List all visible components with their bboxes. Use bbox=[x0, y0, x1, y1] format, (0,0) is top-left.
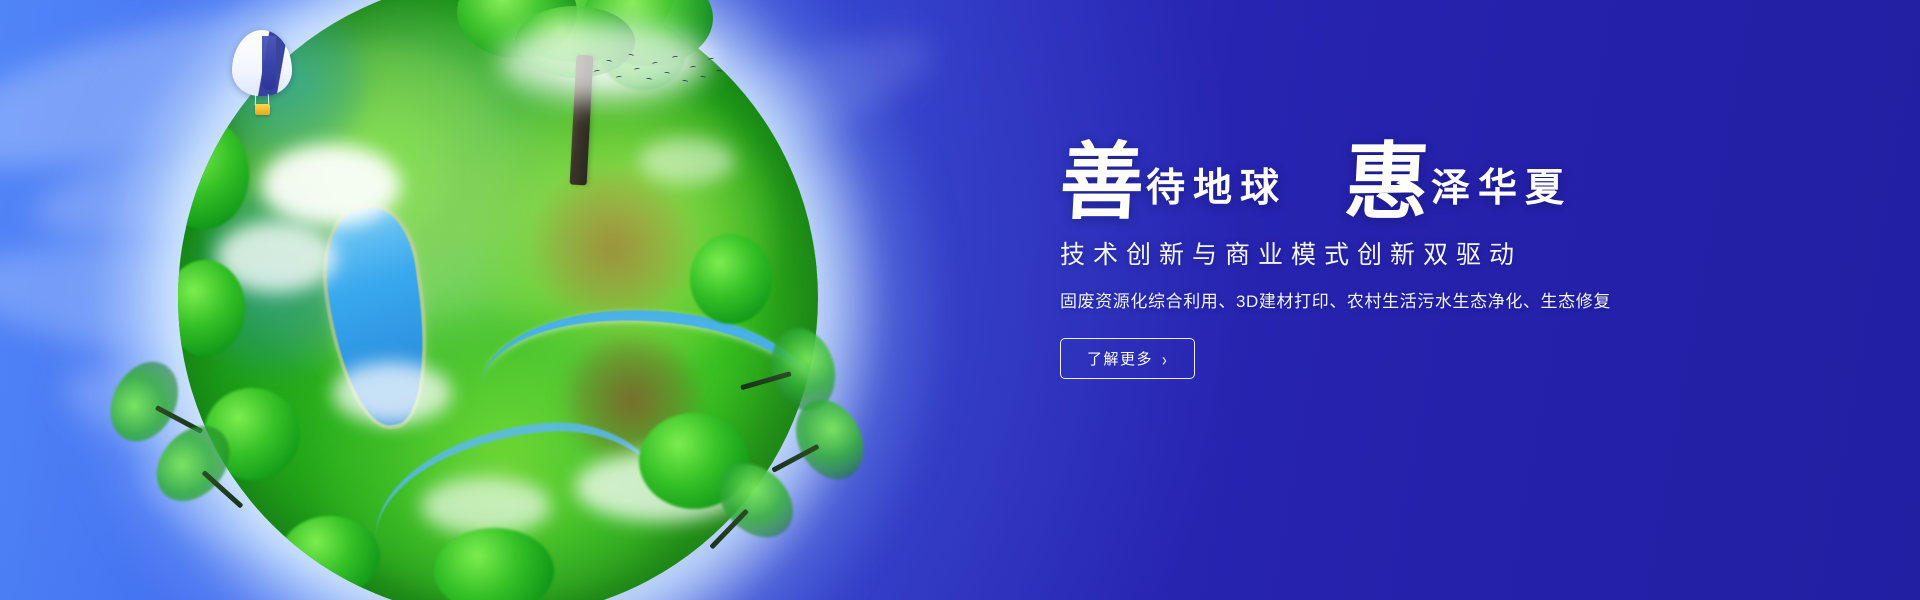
subtitle: 技术创新与商业模式创新双驱动 bbox=[1060, 235, 1700, 271]
headline-rest-1: 待地球 bbox=[1146, 157, 1287, 213]
cloud-patch bbox=[216, 221, 336, 293]
river bbox=[479, 283, 818, 447]
tree-canopy bbox=[434, 528, 554, 600]
lake bbox=[317, 203, 436, 431]
headline: 善 待地球 惠 泽华夏 bbox=[1060, 140, 1700, 217]
learn-more-label: 了解更多 bbox=[1087, 348, 1153, 369]
hero-banner: 善 待地球 惠 泽华夏 技术创新与商业模式创新双驱动 固废资源化综合利用、3D建… bbox=[0, 0, 1920, 600]
river bbox=[365, 411, 668, 544]
hero-copy: 善 待地球 惠 泽华夏 技术创新与商业模式创新双驱动 固废资源化综合利用、3D建… bbox=[1060, 140, 1700, 379]
description: 固废资源化综合利用、3D建材打印、农村生活污水生态净化、生态修复 bbox=[1060, 287, 1700, 312]
bird-flock bbox=[592, 50, 722, 94]
headline-phrase-2: 惠 泽华夏 bbox=[1345, 140, 1572, 217]
headline-rest-2: 泽华夏 bbox=[1431, 157, 1572, 213]
headline-phrase-1: 善 待地球 bbox=[1060, 140, 1287, 217]
headline-lead-char-2: 惠 bbox=[1343, 146, 1431, 218]
terrain-patch bbox=[530, 170, 696, 324]
cloud-patch bbox=[639, 138, 735, 184]
learn-more-button[interactable]: 了解更多 › bbox=[1060, 338, 1195, 379]
tree-canopy bbox=[690, 234, 772, 324]
hot-air-balloon-icon bbox=[232, 30, 292, 122]
tree-canopy bbox=[178, 260, 245, 356]
chevron-right-icon: › bbox=[1162, 348, 1168, 370]
headline-lead-char-1: 善 bbox=[1058, 146, 1146, 218]
